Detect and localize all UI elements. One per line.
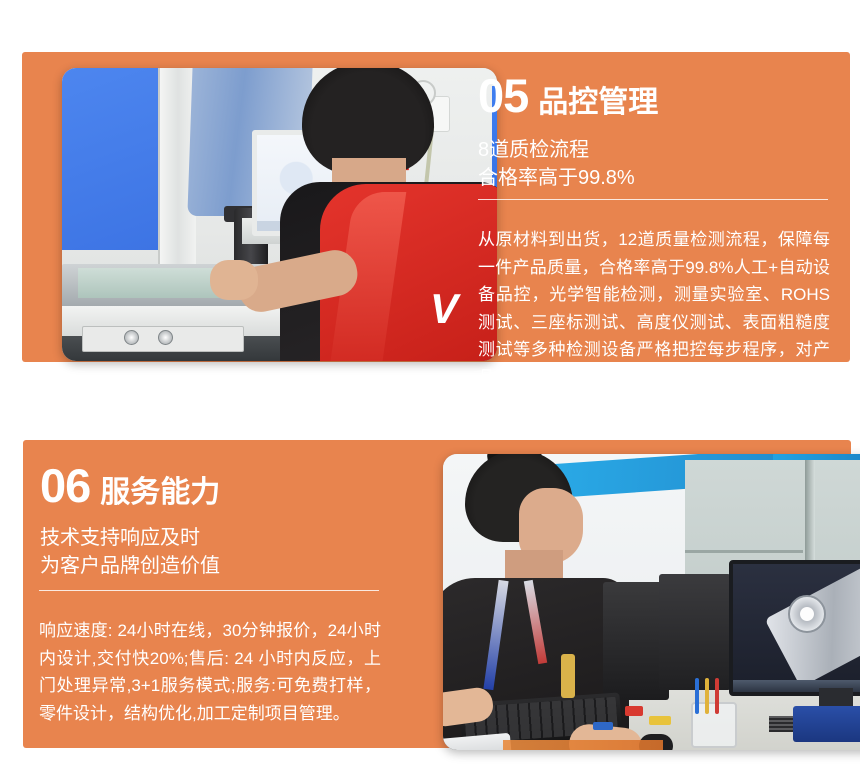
cad-monitor <box>729 560 860 696</box>
desk-item-yellow <box>649 716 671 725</box>
desk-can <box>561 654 575 698</box>
quality-inspection-photo: Jiang 力光精关也 <box>62 68 497 361</box>
engineering-service-photo <box>443 454 860 750</box>
section-number-06: 06 <box>40 462 90 509</box>
cabinet-shelf-1 <box>685 550 803 553</box>
section-body-05: 从原材料到出货，12道质量检测流程，保障每一件产品质量，合格率高于99.8%人工… <box>478 226 830 391</box>
control-knob-right <box>158 330 173 345</box>
inspector-person: V <box>280 68 497 361</box>
pen-red <box>715 678 719 714</box>
subtitle-line-2: 合格率高于99.8% <box>478 164 635 192</box>
pen-yellow <box>705 678 709 714</box>
person-hand <box>210 260 258 300</box>
section-subtitle-06: 技术支持响应及时 为客户品牌创造价值 <box>40 524 220 580</box>
product-detail-page: Jiang 力光精关也 <box>0 0 860 780</box>
cad-flange-detail <box>788 595 826 633</box>
subtitle-line-2: 为客户品牌创造价值 <box>40 552 220 580</box>
blue-backdrop-left <box>62 68 158 250</box>
pen-blue <box>695 678 699 714</box>
control-knob-left <box>124 330 139 345</box>
subtitle-line-1: 技术支持响应及时 <box>40 524 220 552</box>
subtitle-line-1: 8道质检流程 <box>478 136 635 164</box>
section-headline-05: 05 品控管理 <box>478 72 658 119</box>
section-card-service-capability: 06 服务能力 技术支持响应及时 为客户品牌创造价值 响应速度: 24小时在线，… <box>0 400 860 780</box>
section-title-06: 服务能力 <box>100 478 220 508</box>
desk-item-red <box>625 706 643 716</box>
section-subtitle-05: 8道质检流程 合格率高于99.8% <box>478 136 635 192</box>
desk-mat <box>503 740 663 750</box>
desk-item-blue <box>593 722 613 730</box>
divider-05 <box>478 199 828 200</box>
section-number-05: 05 <box>478 72 528 119</box>
blue-toolbox <box>793 706 860 742</box>
section-body-06: 响应速度: 24小时在线，30分钟报价，24小时内设计,交付快20%;售后: 2… <box>39 617 381 727</box>
section-card-quality-control: Jiang 力光精关也 <box>0 0 860 400</box>
section-headline-06: 06 服务能力 <box>40 462 220 509</box>
section-title-05: 品控管理 <box>538 88 658 118</box>
divider-06 <box>39 590 379 591</box>
secondary-monitor <box>659 574 731 690</box>
